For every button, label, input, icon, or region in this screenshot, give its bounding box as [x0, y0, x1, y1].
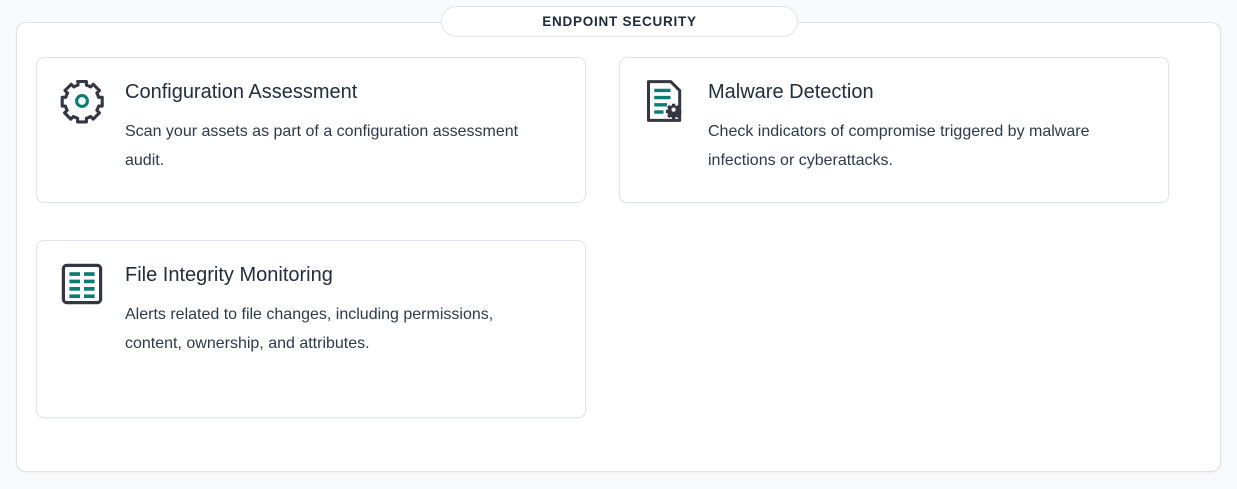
page-title: ENDPOINT SECURITY [542, 14, 697, 29]
card-body: Malware Detection Check indicators of co… [708, 78, 1146, 175]
card-description: Scan your assets as part of a configurat… [125, 117, 535, 175]
card-body: File Integrity Monitoring Alerts related… [125, 261, 563, 358]
file-list-icon [59, 261, 105, 307]
feature-card-grid: Configuration Assessment Scan your asset… [36, 57, 1169, 418]
card-body: Configuration Assessment Scan your asset… [125, 78, 563, 175]
card-configuration-assessment[interactable]: Configuration Assessment Scan your asset… [36, 57, 586, 203]
card-title: Configuration Assessment [125, 79, 563, 105]
card-description: Check indicators of compromise triggered… [708, 117, 1133, 175]
card-file-integrity-monitoring[interactable]: File Integrity Monitoring Alerts related… [36, 240, 586, 418]
panel-title-pill: ENDPOINT SECURITY [441, 6, 798, 37]
card-title: File Integrity Monitoring [125, 262, 563, 288]
endpoint-security-screen: ENDPOINT SECURITY Configuration Assessme… [0, 0, 1237, 489]
card-description: Alerts related to file changes, includin… [125, 300, 500, 358]
card-title: Malware Detection [708, 79, 1146, 105]
document-gear-icon [642, 78, 688, 124]
gear-icon [59, 78, 105, 124]
card-malware-detection[interactable]: Malware Detection Check indicators of co… [619, 57, 1169, 203]
